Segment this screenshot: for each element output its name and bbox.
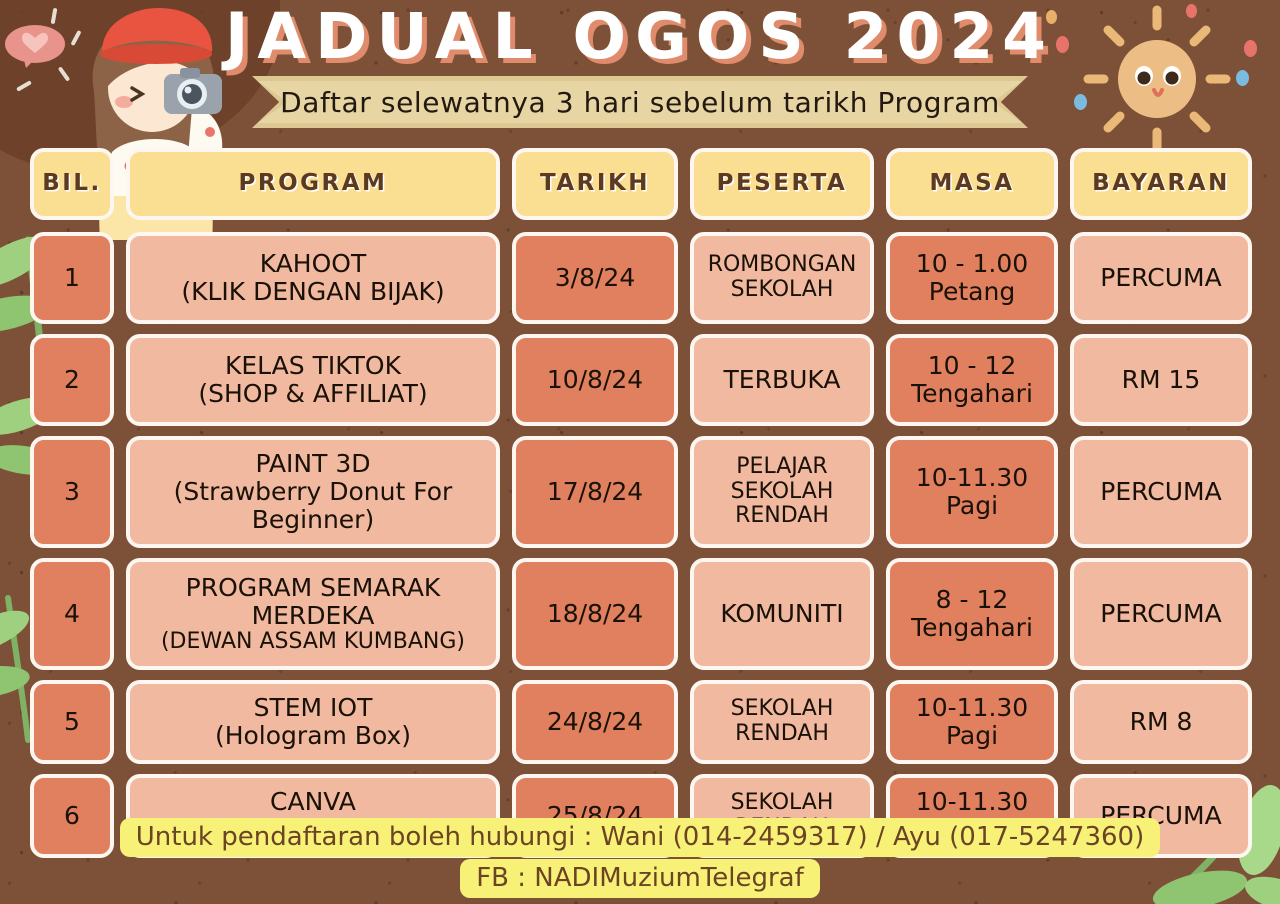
masa-line-1: 8 - 12: [911, 586, 1033, 614]
cell-tarikh: 18/8/24: [512, 558, 678, 670]
program-line-1: CANVA: [174, 788, 451, 816]
header-bil: BIL.: [30, 148, 114, 220]
program-line-2: (KLIK DENGAN BIJAK): [181, 278, 444, 306]
cell-bil: 4: [30, 558, 114, 670]
schedule-table: BIL. PROGRAM TARIKH PESERTA MASA BAYARAN…: [30, 148, 1250, 868]
cell-tarikh: 10/8/24: [512, 334, 678, 426]
cell-masa: 10-11.30 Pagi: [886, 680, 1058, 764]
footer-contact-line: Untuk pendaftaran boleh hubungi : Wani (…: [120, 818, 1160, 857]
header-bayaran: BAYARAN: [1070, 148, 1252, 220]
ribbon-note: Daftar selewatnya 3 hari sebelum tarikh …: [252, 76, 1028, 128]
cell-masa: 10-11.30 Pagi: [886, 436, 1058, 548]
cell-bil: 5: [30, 680, 114, 764]
table-row: 2 KELAS TIKTOK (SHOP & AFFILIAT) 10/8/24…: [30, 334, 1250, 426]
cell-program: PAINT 3D (Strawberry Donut For Beginner): [126, 436, 500, 548]
cell-masa: 10 - 12 Tengahari: [886, 334, 1058, 426]
cell-bil: 3: [30, 436, 114, 548]
header-peserta: PESERTA: [690, 148, 874, 220]
cell-program: STEM IOT (Hologram Box): [126, 680, 500, 764]
table-row: 1 KAHOOT (KLIK DENGAN BIJAK) 3/8/24 ROMB…: [30, 232, 1250, 324]
poster-canvas: JADUAL OGOS 2024 Daftar selewatnya 3 har…: [0, 0, 1280, 904]
confetti-dot: [1074, 94, 1087, 110]
cell-bayaran: PERCUMA: [1070, 436, 1252, 548]
masa-line-1: 10-11.30: [916, 464, 1028, 492]
cell-program: PROGRAM SEMARAK MERDEKA (DEWAN ASSAM KUM…: [126, 558, 500, 670]
masa-line-2: Pagi: [916, 722, 1028, 750]
cell-bil: 2: [30, 334, 114, 426]
table-row: 3 PAINT 3D (Strawberry Donut For Beginne…: [30, 436, 1250, 548]
confetti-dot: [1236, 70, 1249, 86]
cell-masa: 8 - 12 Tengahari: [886, 558, 1058, 670]
program-line-2: MERDEKA: [161, 602, 465, 630]
program-line-2: (SHOP & AFFILIAT): [198, 380, 427, 408]
cell-peserta: PELAJAR SEKOLAH RENDAH: [690, 436, 874, 548]
peserta-line-2: RENDAH: [731, 722, 834, 747]
program-line-1: STEM IOT: [215, 694, 411, 722]
program-line-1: PAINT 3D: [174, 450, 453, 478]
peserta-line-2: SEKOLAH: [731, 480, 834, 505]
cell-bayaran: RM 15: [1070, 334, 1252, 426]
cell-masa: 10 - 1.00 Petang: [886, 232, 1058, 324]
cell-tarikh: 17/8/24: [512, 436, 678, 548]
footer-facebook-line: FB : NADIMuziumTelegraf: [460, 859, 820, 898]
masa-line-2: Tengahari: [911, 614, 1033, 642]
peserta-line-3: RENDAH: [731, 504, 834, 529]
program-line-2: (Strawberry Donut For: [174, 478, 453, 506]
cell-program: KAHOOT (KLIK DENGAN BIJAK): [126, 232, 500, 324]
header-tarikh: TARIKH: [512, 148, 678, 220]
program-line-1: KELAS TIKTOK: [198, 352, 427, 380]
program-line-1: PROGRAM SEMARAK: [161, 574, 465, 602]
program-line-3: (DEWAN ASSAM KUMBANG): [161, 630, 465, 655]
page-title: JADUAL OGOS 2024: [0, 4, 1280, 70]
masa-line-2: Pagi: [916, 492, 1028, 520]
masa-line-1: 10 - 1.00: [916, 250, 1028, 278]
cell-peserta: TERBUKA: [690, 334, 874, 426]
peserta-line-2: SEKOLAH: [708, 278, 857, 303]
table-row: 4 PROGRAM SEMARAK MERDEKA (DEWAN ASSAM K…: [30, 558, 1250, 670]
cell-bil: 1: [30, 232, 114, 324]
peserta-line-1: PELAJAR: [731, 455, 834, 480]
table-header-row: BIL. PROGRAM TARIKH PESERTA MASA BAYARAN: [30, 148, 1250, 220]
cell-peserta: KOMUNITI: [690, 558, 874, 670]
program-line-2: (Hologram Box): [215, 722, 411, 750]
header-masa: MASA: [886, 148, 1058, 220]
masa-line-1: 10-11.30: [916, 788, 1028, 816]
header-program: PROGRAM: [126, 148, 500, 220]
masa-line-1: 10-11.30: [916, 694, 1028, 722]
cell-peserta: SEKOLAH RENDAH: [690, 680, 874, 764]
cell-peserta: ROMBONGAN SEKOLAH: [690, 232, 874, 324]
peserta-line-1: SEKOLAH: [731, 791, 834, 816]
cell-tarikh: 24/8/24: [512, 680, 678, 764]
cell-bayaran: RM 8: [1070, 680, 1252, 764]
peserta-line-1: SEKOLAH: [731, 697, 834, 722]
masa-line-1: 10 - 12: [911, 352, 1033, 380]
footer-contact: Untuk pendaftaran boleh hubungi : Wani (…: [0, 818, 1280, 898]
cell-bayaran: PERCUMA: [1070, 558, 1252, 670]
masa-line-2: Tengahari: [911, 380, 1033, 408]
ribbon-banner: Daftar selewatnya 3 hari sebelum tarikh …: [252, 76, 1028, 128]
table-row: 5 STEM IOT (Hologram Box) 24/8/24 SEKOLA…: [30, 680, 1250, 764]
peserta-line-1: ROMBONGAN: [708, 253, 857, 278]
program-line-3: Beginner): [174, 506, 453, 534]
cell-tarikh: 3/8/24: [512, 232, 678, 324]
program-line-1: KAHOOT: [181, 250, 444, 278]
masa-line-2: Petang: [916, 278, 1028, 306]
cell-program: KELAS TIKTOK (SHOP & AFFILIAT): [126, 334, 500, 426]
cell-bayaran: PERCUMA: [1070, 232, 1252, 324]
